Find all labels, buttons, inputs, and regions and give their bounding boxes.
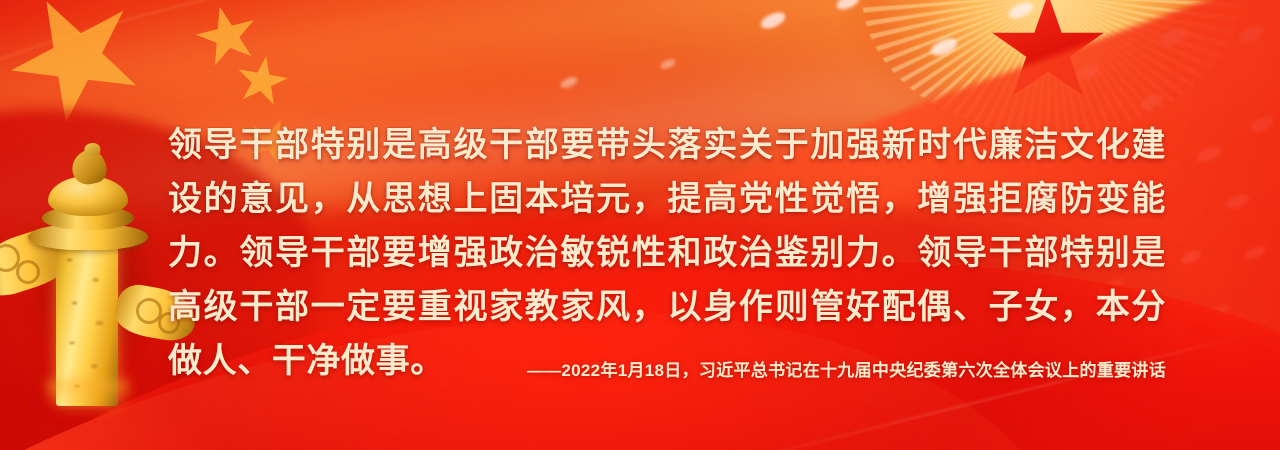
propaganda-banner: 领导干部特别是高级干部要带头落实关于加强新时代廉洁文化建设的意见，从思想上固本培… <box>0 0 1280 450</box>
quote-text: 领导干部特别是高级干部要带头落实关于加强新时代廉洁文化建设的意见，从思想上固本培… <box>168 118 1166 388</box>
banner-content: 领导干部特别是高级干部要带头落实关于加强新时代廉洁文化建设的意见，从思想上固本培… <box>0 0 1280 450</box>
quote-attribution: ——2022年1月18日，习近平总书记在十九届中央纪委第六次全体会议上的重要讲话 <box>168 356 1166 381</box>
